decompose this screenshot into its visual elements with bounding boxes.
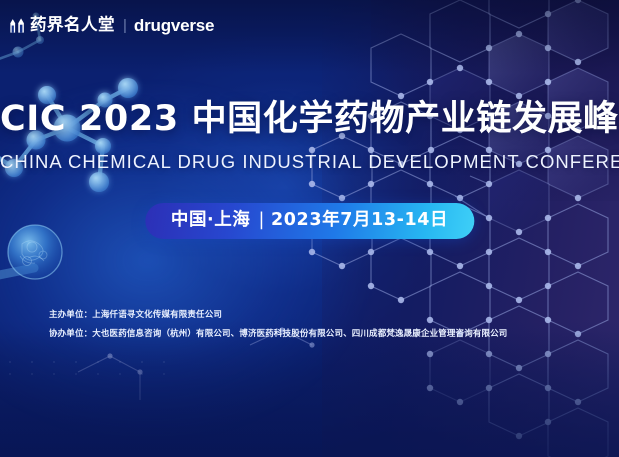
logo-separator: | [123, 18, 127, 33]
conference-title-chinese: CIC 2023 中国化学药物产业链发展峰会 [0, 100, 619, 139]
badge-date: 2023年7月13-14日 [271, 212, 448, 230]
badge-location: 中国·上海 [171, 212, 251, 230]
conference-banner: 药界名人堂 | drugverse CIC 2023 中国化学药物产业链发展峰会… [0, 0, 619, 457]
conference-title-english: CHINA CHEMICAL DRUG INDUSTRIAL DEVELOPME… [0, 152, 619, 172]
location-date-badge: 中国·上海 | 2023年7月13-14日 [145, 203, 474, 239]
co-host-organizer-line: 协办单位：大也医药信息咨询（杭州）有限公司、博济医药科技股份有限公司、四川成都梵… [49, 330, 507, 339]
background-bottom-fade [0, 320, 619, 457]
logo-chinese-name: 药界名人堂 [30, 17, 115, 34]
logo-english-name: drugverse [134, 17, 214, 34]
brand-logo-bar[interactable]: 药界名人堂 | drugverse [8, 12, 214, 38]
badge-separator: | [259, 212, 266, 230]
organizer-info: 主办单位：上海仟语寻文化传媒有限责任公司 协办单位：大也医药信息咨询（杭州）有限… [49, 311, 507, 338]
host-organizer-line: 主办单位：上海仟语寻文化传媒有限责任公司 [49, 311, 507, 320]
temple-gate-icon [8, 16, 27, 35]
